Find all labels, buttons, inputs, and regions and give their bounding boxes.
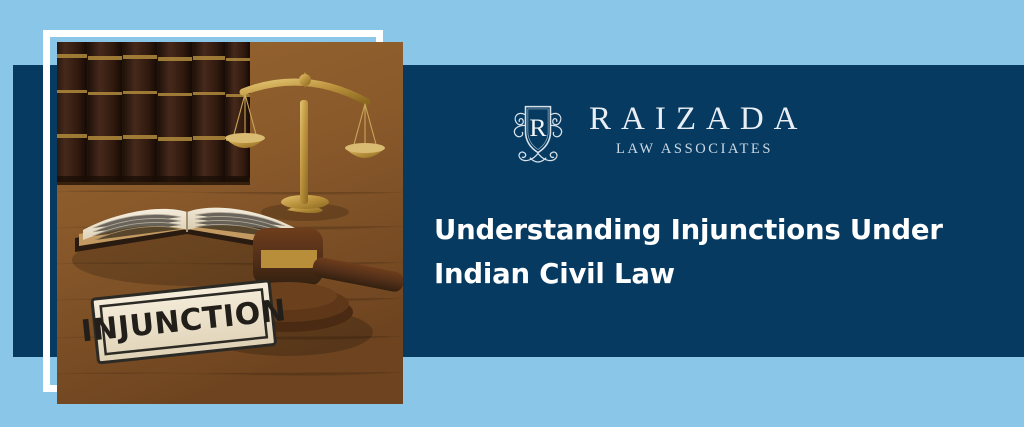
- page-title: Understanding Injunctions Under Indian C…: [434, 208, 974, 296]
- brand-name: RAIZADA: [579, 102, 807, 137]
- raizada-law-associates-logo[interactable]: R RAIZADA LAW ASSOCIATES: [499, 90, 807, 170]
- shield-monogram-icon: R: [499, 91, 577, 169]
- logo-monogram-letter: R: [529, 113, 547, 142]
- blog-header-banner: INJUNCTION: [0, 0, 1024, 427]
- brand-subtitle: LAW ASSOCIATES: [613, 141, 773, 158]
- logo-wordmark: RAIZADA LAW ASSOCIATES: [579, 102, 807, 158]
- banner-content: R RAIZADA LAW ASSOCIATES Understanding I…: [434, 65, 994, 357]
- law-books: [57, 42, 250, 185]
- hero-photo: INJUNCTION: [57, 42, 403, 404]
